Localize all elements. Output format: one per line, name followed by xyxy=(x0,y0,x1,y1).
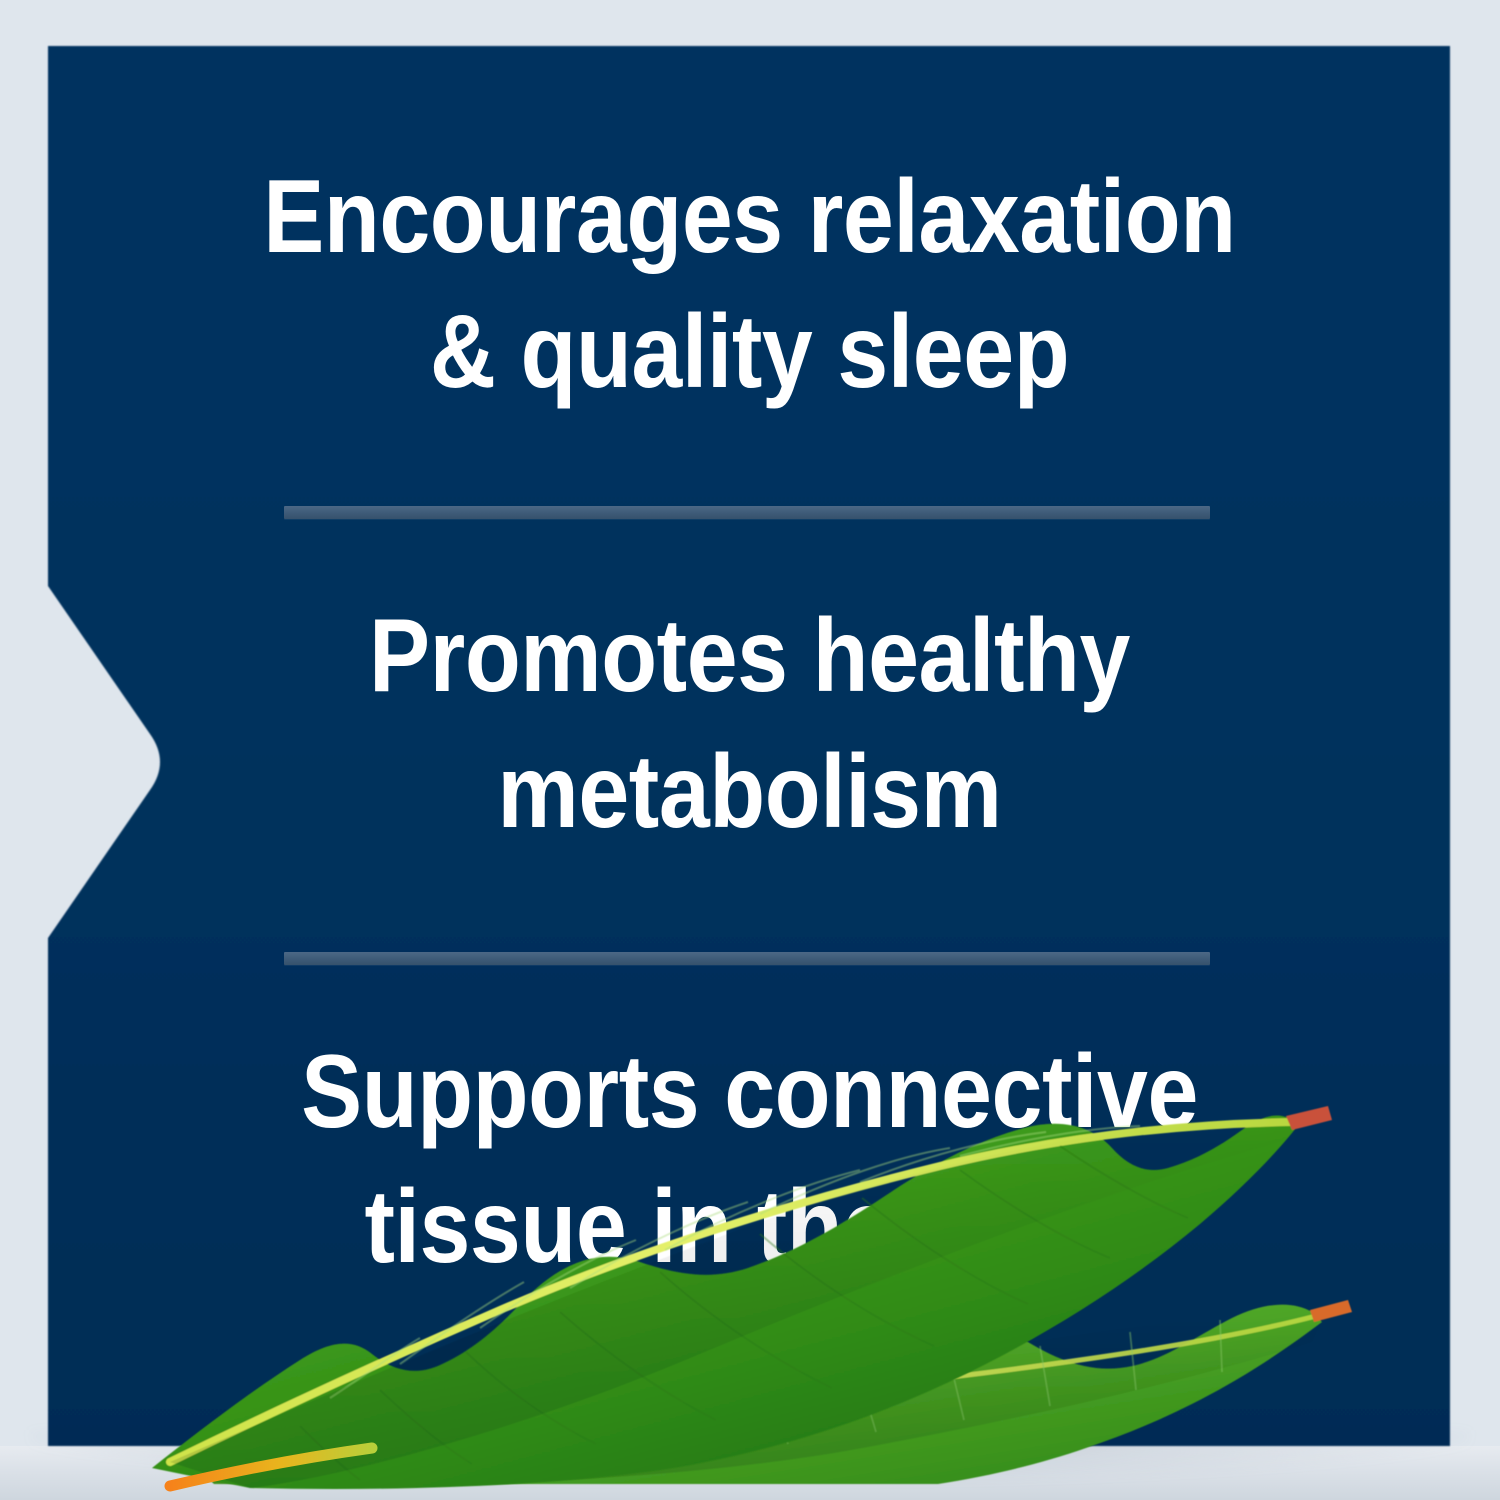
benefit-connective-tissue: Supports connective tissue in the body xyxy=(232,1025,1266,1295)
benefit-relaxation-sleep: Encourages relaxation & quality sleep xyxy=(232,150,1266,420)
divider-2 xyxy=(284,952,1210,965)
divider-1 xyxy=(284,506,1210,519)
benefit-healthy-metabolism: Promotes healthy metabolism xyxy=(232,589,1266,859)
benefits-list: Encourages relaxation & quality sleep Pr… xyxy=(48,46,1450,1446)
product-benefits-graphic: Encourages relaxation & quality sleep Pr… xyxy=(0,0,1500,1500)
